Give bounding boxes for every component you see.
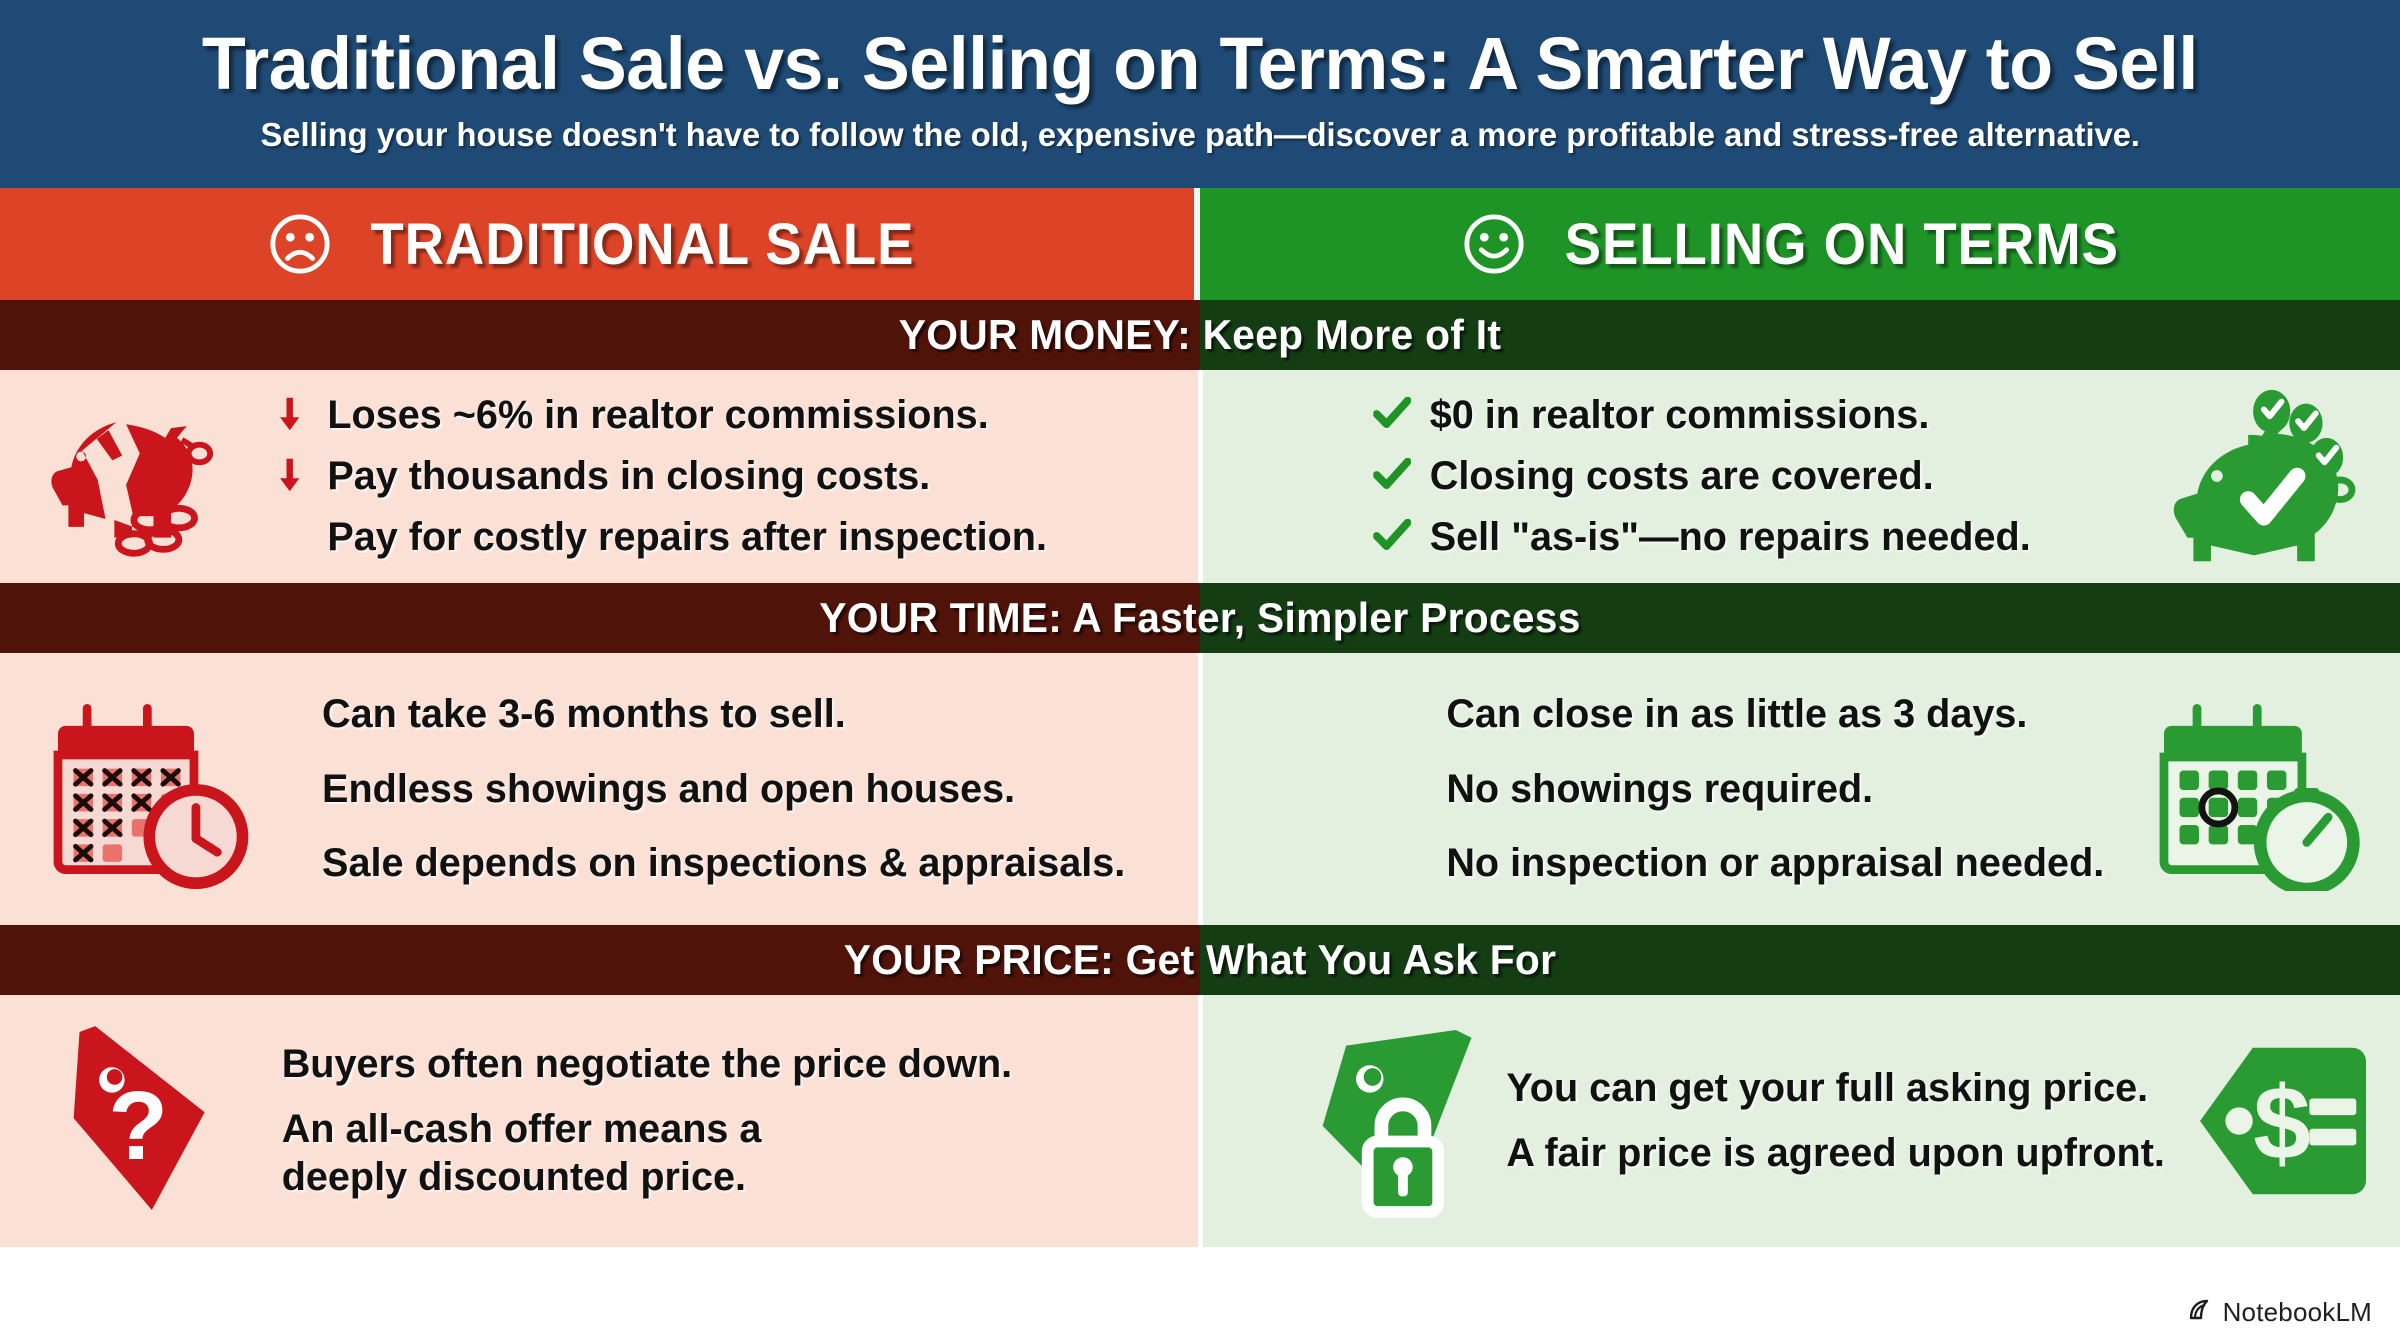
notebooklm-logo-icon xyxy=(2185,1296,2213,1329)
list-item: No showings required. xyxy=(1447,765,2105,814)
list-item-text: You can get your full asking price. xyxy=(1506,1064,2148,1113)
section-band-price: YOUR PRICE: Get What You Ask For xyxy=(0,925,2400,995)
list-item-text: Pay thousands in closing costs. xyxy=(327,452,930,501)
panel-time-traditional: Can take 3-6 months to sell. Endless sho… xyxy=(0,653,1198,925)
svg-text:?: ? xyxy=(108,1070,168,1180)
band-half-right xyxy=(1200,583,2400,653)
calendar-with-stopwatch-icon xyxy=(2158,687,2372,891)
list-item-text: Sale depends on inspections & appraisals… xyxy=(322,839,1125,888)
list-item-text: Loses ~6% in realtor commissions. xyxy=(327,391,988,440)
list-item: Closing costs are covered. xyxy=(1372,452,2030,501)
price-traditional-list: Buyers often negotiate the price down. A… xyxy=(278,1040,1016,1202)
watermark-text: NotebookLM xyxy=(2223,1297,2372,1328)
list-item: Can take 3-6 months to sell. xyxy=(322,690,1125,739)
band-half-left xyxy=(0,925,1200,995)
section-row-money: Loses ~6% in realtor commissions. Pay th… xyxy=(0,370,2400,583)
list-item: Loses ~6% in realtor commissions. xyxy=(270,391,1047,440)
section-band-money: YOUR MONEY: Keep More of It xyxy=(0,300,2400,370)
section-row-price: ? Buyers often negotiate the price down.… xyxy=(0,995,2400,1247)
band-half-left xyxy=(0,583,1200,653)
broken-piggy-bank-icon xyxy=(32,389,228,565)
column-header-terms: SELLING ON TERMS xyxy=(1200,188,2400,300)
list-item-text: Pay for costly repairs after inspection. xyxy=(327,513,1047,562)
smiling-face-icon xyxy=(1463,213,1525,275)
checkmark-icon xyxy=(1372,452,1412,498)
bullet-placeholder xyxy=(270,513,310,559)
time-terms-list: Can close in as little as 3 days. No sho… xyxy=(1443,690,2108,888)
list-item: Pay thousands in closing costs. xyxy=(270,452,1047,501)
column-headers: TRADITIONAL SALE SELLING ON TERMS xyxy=(0,188,2400,300)
list-item-text: No inspection or appraisal needed. xyxy=(1447,839,2105,888)
money-traditional-list: Loses ~6% in realtor commissions. Pay th… xyxy=(266,391,1051,561)
price-terms-list: You can get your full asking price. A fa… xyxy=(1503,1064,2168,1178)
list-item-text: Can take 3-6 months to sell. xyxy=(322,690,846,739)
piggy-bank-with-checkmarks-icon xyxy=(2154,384,2360,570)
price-tag-dollar-icon: $ xyxy=(2196,1038,2372,1204)
list-item: $0 in realtor commissions. xyxy=(1372,391,2030,440)
band-half-right xyxy=(1200,925,2400,995)
section-band-time: YOUR TIME: A Faster, Simpler Process xyxy=(0,583,2400,653)
price-tag-lock-icon xyxy=(1307,1018,1493,1224)
list-item: No inspection or appraisal needed. xyxy=(1447,839,2105,888)
list-item: Pay for costly repairs after inspection. xyxy=(270,513,1047,562)
checkmark-icon xyxy=(1372,391,1412,437)
svg-text:$: $ xyxy=(2253,1065,2311,1181)
watermark: NotebookLM xyxy=(2185,1296,2372,1329)
list-item: Can close in as little as 3 days. xyxy=(1447,690,2105,739)
list-item: You can get your full asking price. xyxy=(1506,1064,2165,1113)
list-item-text: Sell "as-is"—no repairs needed. xyxy=(1430,513,2031,562)
down-arrow-icon xyxy=(270,391,310,437)
page-subtitle: Selling your house doesn't have to follo… xyxy=(260,116,2139,154)
panel-money-traditional: Loses ~6% in realtor commissions. Pay th… xyxy=(0,370,1198,583)
infographic-root: Traditional Sale vs. Selling on Terms: A… xyxy=(0,0,2400,1339)
checkmark-icon xyxy=(1372,513,1412,559)
section-row-time: Can take 3-6 months to sell. Endless sho… xyxy=(0,653,2400,925)
frowning-face-icon xyxy=(269,213,331,275)
list-item-text: No showings required. xyxy=(1447,765,1874,814)
band-half-right xyxy=(1200,300,2400,370)
title-header: Traditional Sale vs. Selling on Terms: A… xyxy=(0,0,2400,188)
down-arrow-icon xyxy=(270,452,310,498)
list-item: Sale depends on inspections & appraisals… xyxy=(322,839,1125,888)
list-item-text: Endless showings and open houses. xyxy=(322,765,1015,814)
list-item-text: Closing costs are covered. xyxy=(1430,452,1934,501)
list-item-text: Can close in as little as 3 days. xyxy=(1447,690,2028,739)
list-item: Sell "as-is"—no repairs needed. xyxy=(1372,513,2030,562)
page-title: Traditional Sale vs. Selling on Terms: A… xyxy=(202,26,2198,103)
list-item-text: $0 in realtor commissions. xyxy=(1430,391,1930,440)
panel-price-terms: You can get your full asking price. A fa… xyxy=(1203,995,2400,1247)
panel-money-terms: $0 in realtor commissions. Closing costs… xyxy=(1203,370,2400,583)
list-item: Endless showings and open houses. xyxy=(322,765,1125,814)
time-traditional-list: Can take 3-6 months to sell. Endless sho… xyxy=(318,690,1129,888)
calendar-with-clock-icon xyxy=(52,687,266,891)
list-item: An all-cash offer means a deeply discoun… xyxy=(282,1105,1012,1203)
list-item-text: Buyers often negotiate the price down. xyxy=(282,1040,1012,1089)
list-item: A fair price is agreed upon upfront. xyxy=(1506,1129,2165,1178)
column-header-traditional-label: TRADITIONAL SALE xyxy=(370,211,914,278)
panel-price-traditional: ? Buyers often negotiate the price down.… xyxy=(0,995,1198,1247)
list-item-text: A fair price is agreed upon upfront. xyxy=(1506,1129,2165,1178)
panel-time-terms: Can close in as little as 3 days. No sho… xyxy=(1203,653,2400,925)
list-item-text: An all-cash offer means a deeply discoun… xyxy=(282,1105,836,1203)
money-terms-list: $0 in realtor commissions. Closing costs… xyxy=(1369,391,2034,561)
column-header-terms-label: SELLING ON TERMS xyxy=(1565,211,2119,278)
column-header-traditional: TRADITIONAL SALE xyxy=(0,188,1200,300)
price-tag-question-mark-icon: ? xyxy=(58,1018,234,1224)
list-item: Buyers often negotiate the price down. xyxy=(282,1040,1012,1089)
band-half-left xyxy=(0,300,1200,370)
